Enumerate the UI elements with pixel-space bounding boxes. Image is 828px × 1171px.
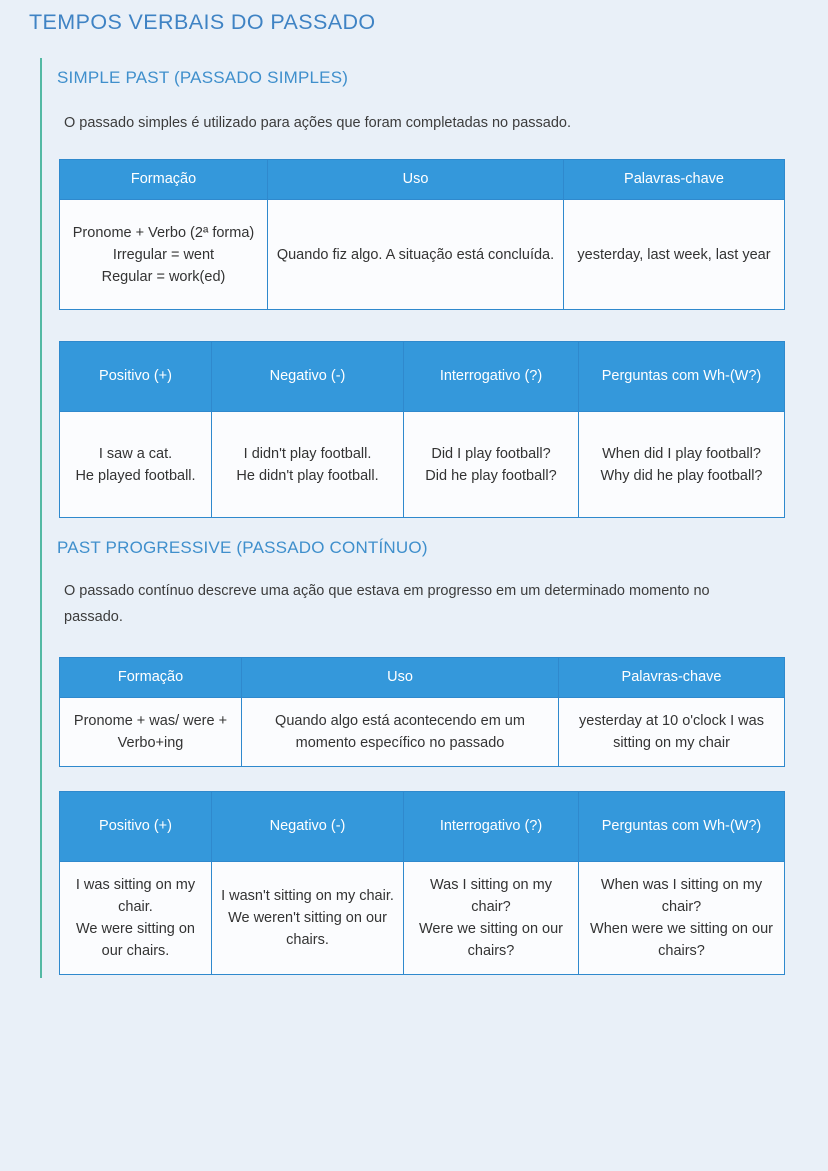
cell-uso: Quando fiz algo. A situação está concluí…: [268, 200, 564, 310]
column-header-positivo: Positivo (+): [60, 342, 212, 412]
cell-line: yesterday, last week, last year: [572, 244, 776, 266]
cell-line: yesterday at 10 o'clock I was sitting on…: [567, 710, 776, 754]
cell-formacao: Pronome + Verbo (2ª forma)Irregular = we…: [60, 200, 268, 310]
table-header-row: Positivo (+) Negativo (-) Interrogativo …: [60, 792, 785, 862]
table-simple-past-forms: Positivo (+) Negativo (-) Interrogativo …: [59, 341, 785, 518]
table-header-row: Positivo (+) Negativo (-) Interrogativo …: [60, 342, 785, 412]
cell-palavras-chave: yesterday at 10 o'clock I was sitting on…: [559, 698, 785, 767]
column-header-interrogativo: Interrogativo (?): [404, 792, 579, 862]
table-header-row: Formação Uso Palavras-chave: [60, 160, 785, 200]
cell-line: Was I sitting on my chair?: [412, 874, 570, 918]
cell-line: When were we sitting on our chairs?: [587, 918, 776, 962]
cell-line: When was I sitting on my chair?: [587, 874, 776, 918]
cell-interrogativo: Was I sitting on my chair?Were we sittin…: [404, 862, 579, 975]
column-header-interrogativo: Interrogativo (?): [404, 342, 579, 412]
cell-line: I saw a cat.: [68, 443, 203, 465]
table-row: Pronome + was/ were + Verbo+ing Quando a…: [60, 698, 785, 767]
cell-uso: Quando algo está acontecendo em um momen…: [242, 698, 559, 767]
cell-line: He didn't play football.: [220, 465, 395, 487]
cell-line: I was sitting on my chair.: [68, 874, 203, 918]
cell-perguntas-wh: When was I sitting on my chair?When were…: [579, 862, 785, 975]
cell-line: Quando fiz algo. A situação está concluí…: [276, 244, 555, 266]
section-description-simple-past: O passado simples é utilizado para ações…: [64, 110, 764, 136]
cell-positivo: I was sitting on my chair.We were sittin…: [60, 862, 212, 975]
column-header-perguntas-wh: Perguntas com Wh-(W?): [579, 792, 785, 862]
section-description-past-progressive: O passado contínuo descreve uma ação que…: [64, 578, 764, 630]
column-header-palavras-chave: Palavras-chave: [564, 160, 785, 200]
column-header-palavras-chave: Palavras-chave: [559, 658, 785, 698]
section-heading-past-progressive: PAST PROGRESSIVE (PASSADO CONTÍNUO): [57, 538, 428, 558]
table-past-progressive-structure: Formação Uso Palavras-chave Pronome + wa…: [59, 657, 785, 767]
cell-line: Irregular = went: [68, 244, 259, 266]
cell-line: Why did he play football?: [587, 465, 776, 487]
column-header-formacao: Formação: [60, 658, 242, 698]
cell-line: Quando algo está acontecendo em um momen…: [250, 710, 550, 754]
cell-line: I wasn't sitting on my chair.: [220, 885, 395, 907]
table-past-progressive-forms: Positivo (+) Negativo (-) Interrogativo …: [59, 791, 785, 975]
column-header-uso: Uso: [268, 160, 564, 200]
cell-perguntas-wh: When did I play football?Why did he play…: [579, 412, 785, 518]
cell-line: Were we sitting on our chairs?: [412, 918, 570, 962]
cell-interrogativo: Did I play football?Did he play football…: [404, 412, 579, 518]
cell-line: Pronome + was/ were + Verbo+ing: [68, 710, 233, 754]
worksheet-page: TEMPOS VERBAIS DO PASSADO SIMPLE PAST (P…: [0, 0, 828, 1171]
cell-line: Did he play football?: [412, 465, 570, 487]
cell-line: Pronome + Verbo (2ª forma): [68, 222, 259, 244]
cell-line: Did I play football?: [412, 443, 570, 465]
column-header-uso: Uso: [242, 658, 559, 698]
cell-formacao: Pronome + was/ were + Verbo+ing: [60, 698, 242, 767]
column-header-positivo: Positivo (+): [60, 792, 212, 862]
table-row: I was sitting on my chair.We were sittin…: [60, 862, 785, 975]
table-row: I saw a cat.He played football. I didn't…: [60, 412, 785, 518]
table-row: Pronome + Verbo (2ª forma)Irregular = we…: [60, 200, 785, 310]
cell-line: He played football.: [68, 465, 203, 487]
cell-negativo: I wasn't sitting on my chair.We weren't …: [212, 862, 404, 975]
column-header-perguntas-wh: Perguntas com Wh-(W?): [579, 342, 785, 412]
cell-negativo: I didn't play football.He didn't play fo…: [212, 412, 404, 518]
cell-line: We were sitting on our chairs.: [68, 918, 203, 962]
column-header-negativo: Negativo (-): [212, 342, 404, 412]
left-accent-rail: [40, 58, 42, 978]
cell-line: When did I play football?: [587, 443, 776, 465]
column-header-negativo: Negativo (-): [212, 792, 404, 862]
cell-line: We weren't sitting on our chairs.: [220, 907, 395, 951]
cell-positivo: I saw a cat.He played football.: [60, 412, 212, 518]
cell-line: I didn't play football.: [220, 443, 395, 465]
cell-palavras-chave: yesterday, last week, last year: [564, 200, 785, 310]
table-header-row: Formação Uso Palavras-chave: [60, 658, 785, 698]
column-header-formacao: Formação: [60, 160, 268, 200]
section-heading-simple-past: SIMPLE PAST (PASSADO SIMPLES): [57, 68, 348, 88]
table-simple-past-structure: Formação Uso Palavras-chave Pronome + Ve…: [59, 159, 785, 310]
page-title: TEMPOS VERBAIS DO PASSADO: [29, 10, 376, 35]
cell-line: Regular = work(ed): [68, 266, 259, 288]
